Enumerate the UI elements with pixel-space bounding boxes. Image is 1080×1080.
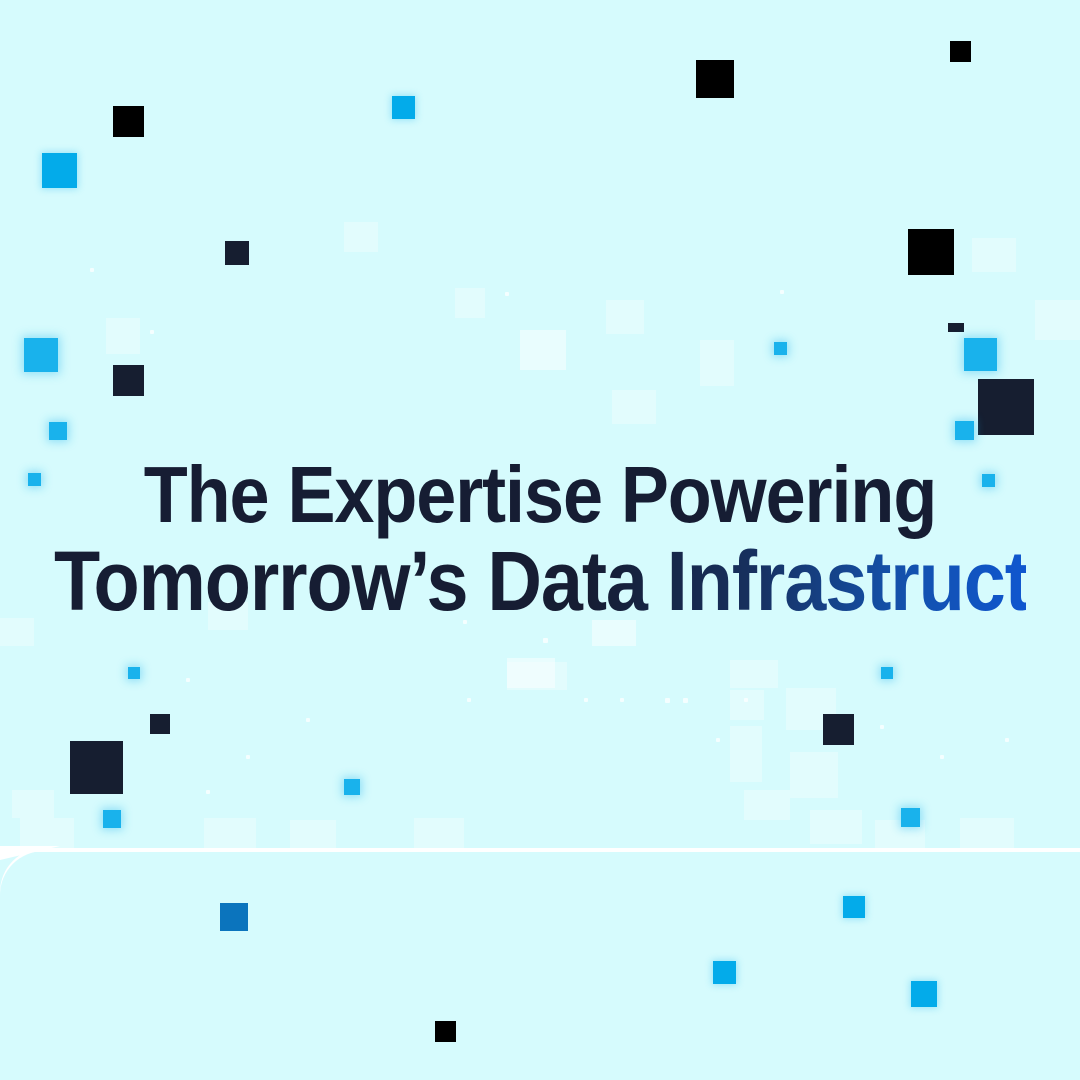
dot-12: [206, 790, 210, 794]
ghost-square-11: [730, 726, 762, 782]
square-navy-left-mid: [113, 365, 144, 396]
ghost-square-2: [455, 288, 485, 318]
dot-15: [940, 755, 944, 759]
ghost-square-10: [730, 690, 764, 720]
square-cyan-low-right-tiny: [881, 667, 893, 679]
square-cyan-right-tiny: [982, 474, 995, 487]
square-cyan-top-left: [42, 153, 77, 188]
square-cyan-low-mid: [344, 779, 360, 795]
ghost-square-14: [744, 790, 790, 820]
dot-14: [880, 725, 884, 729]
ghost-square-5: [700, 340, 734, 386]
dot-5: [584, 698, 588, 702]
ghost-square-1: [106, 318, 140, 354]
ghost-square-28: [208, 602, 248, 630]
ghost-square-20: [204, 818, 256, 850]
dot-4: [620, 698, 624, 702]
ghost-square-6: [612, 390, 656, 424]
ghost-square-18: [414, 818, 464, 850]
dot-18: [150, 330, 154, 334]
dot-17: [90, 268, 94, 272]
square-black-top-center: [696, 60, 734, 98]
square-cyan-low-right2: [901, 808, 920, 827]
dot-10: [306, 718, 310, 722]
square-cyan-left-small: [49, 422, 67, 440]
lower-panel: [0, 851, 1080, 1080]
square-navy-low-left-big: [70, 741, 123, 794]
ghost-square-15: [810, 810, 862, 844]
square-navy-low-left-small: [150, 714, 170, 734]
ghost-square-21: [290, 820, 336, 850]
dot-8: [463, 620, 467, 624]
square-cyan-left-mid: [24, 338, 58, 372]
square-cyan-low-left2: [103, 810, 121, 828]
dot-11: [246, 755, 250, 759]
square-cyan-mid-tiny: [774, 342, 787, 355]
ghost-square-8: [507, 662, 567, 690]
dot-13: [716, 738, 720, 742]
square-cyan-panel-right2: [911, 981, 937, 1007]
ghost-square-9: [730, 660, 778, 688]
ghost-square-3: [520, 330, 566, 370]
hero-banner: The Expertise Powering Tomorrow’s Data I…: [0, 0, 1080, 1080]
square-blue-panel-left: [220, 903, 248, 931]
square-black-panel-bottom: [435, 1021, 456, 1042]
square-black-top-right: [950, 41, 971, 62]
ghost-square-26: [344, 222, 378, 252]
square-navy-right-large: [978, 379, 1034, 435]
ghost-square-19: [20, 818, 74, 850]
square-cyan-panel-right: [843, 896, 865, 918]
square-black-upper-right: [908, 229, 954, 275]
hero-region: [0, 0, 1080, 851]
dot-20: [780, 290, 784, 294]
square-black-top-left: [113, 106, 144, 137]
square-cyan-right-mid: [964, 338, 997, 371]
square-navy-right-bar: [948, 323, 964, 332]
square-cyan-top-mid: [392, 96, 415, 119]
ghost-square-4: [606, 300, 644, 334]
dot-1: [543, 638, 548, 643]
dot-7: [467, 698, 471, 702]
square-cyan-left-tiny: [28, 473, 41, 486]
dot-19: [505, 292, 509, 296]
square-navy-upper-left: [225, 241, 249, 265]
ghost-square-25: [972, 238, 1016, 272]
square-cyan-right-small: [955, 421, 974, 440]
ghost-square-27: [1035, 300, 1080, 340]
dot-3: [683, 698, 688, 703]
dot-6: [744, 698, 748, 702]
ghost-square-23: [592, 620, 636, 646]
dot-9: [186, 678, 190, 682]
ghost-square-13: [790, 752, 838, 798]
ghost-square-17: [960, 818, 1014, 850]
square-cyan-panel-mid: [713, 961, 736, 984]
dot-2: [665, 698, 670, 703]
ghost-square-22: [12, 790, 54, 818]
square-cyan-low-left-tiny: [128, 667, 140, 679]
dot-16: [1005, 738, 1009, 742]
square-navy-low-right: [823, 714, 854, 745]
ghost-square-24: [0, 618, 34, 646]
